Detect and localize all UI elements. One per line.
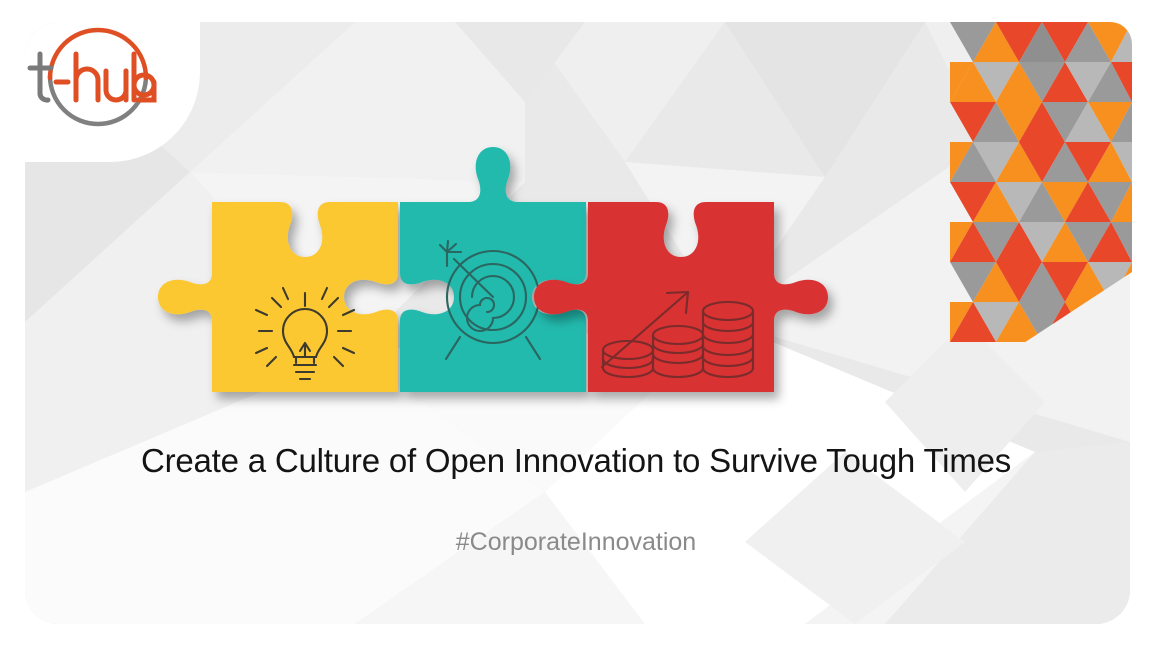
- t-hub-logo: [18, 16, 178, 136]
- puzzle-piece-idea[interactable]: [158, 202, 398, 392]
- puzzle-graphic: [150, 145, 890, 435]
- page-title: Create a Culture of Open Innovation to S…: [0, 442, 1152, 480]
- puzzle-piece-target[interactable]: [400, 147, 586, 392]
- hashtag-label: #CorporateInnovation: [0, 528, 1152, 557]
- triangle-pattern-decoration: [950, 22, 1132, 352]
- slide-canvas: Create a Culture of Open Innovation to S…: [0, 0, 1152, 648]
